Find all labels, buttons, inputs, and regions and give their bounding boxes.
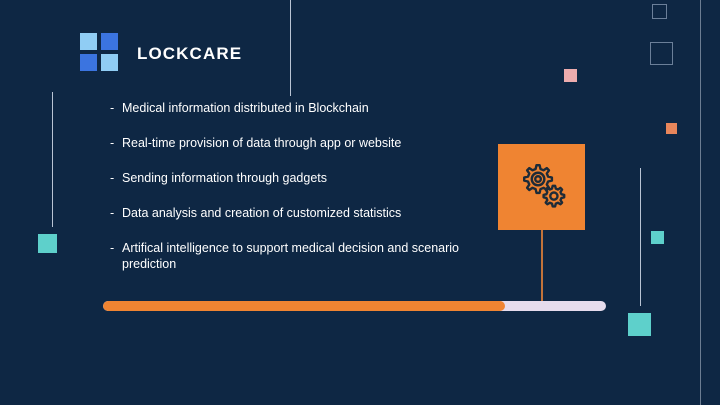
vertical-line-far-right [700, 0, 701, 405]
square-outline-large [650, 42, 673, 65]
square-teal-large-right [628, 313, 651, 336]
four-squares-logo-icon [80, 33, 118, 71]
vertical-line-right [640, 168, 641, 306]
vertical-line-middle [290, 0, 291, 96]
bullet-dash-icon: - [110, 135, 122, 151]
bullet-dash-icon: - [110, 100, 122, 116]
page-title: LOCKCARE [137, 44, 242, 64]
logo-square-top-right [101, 33, 118, 50]
square-pink [564, 69, 577, 82]
list-item-label: Real-time provision of data through app … [122, 135, 401, 151]
progress-bar-fill [103, 301, 505, 311]
bullet-dash-icon: - [110, 205, 122, 221]
square-orange [666, 123, 677, 134]
gears-card [498, 144, 585, 230]
list-item: - Real-time provision of data through ap… [110, 135, 500, 151]
logo-square-bottom-right [101, 54, 118, 71]
list-item: - Medical information distributed in Blo… [110, 100, 500, 116]
slide-canvas: LOCKCARE - Medical information distribut… [0, 0, 720, 405]
bullet-dash-icon: - [110, 170, 122, 186]
square-outline-small [652, 4, 667, 19]
feature-list: - Medical information distributed in Blo… [110, 100, 500, 272]
square-teal-left [38, 234, 57, 253]
bullet-dash-icon: - [110, 240, 122, 256]
list-item-label: Data analysis and creation of customized… [122, 205, 401, 221]
list-item: - Artifical intelligence to support medi… [110, 240, 500, 272]
card-connector-line [541, 230, 543, 306]
list-item: - Sending information through gadgets [110, 170, 500, 186]
logo-square-bottom-left [80, 54, 97, 71]
vertical-line-left [52, 92, 53, 227]
gears-icon [515, 162, 569, 212]
list-item-label: Sending information through gadgets [122, 170, 327, 186]
progress-bar[interactable] [103, 301, 606, 311]
square-teal-small-right [651, 231, 664, 244]
logo-square-top-left [80, 33, 97, 50]
list-item-label: Artifical intelligence to support medica… [122, 240, 500, 272]
list-item-label: Medical information distributed in Block… [122, 100, 369, 116]
list-item: - Data analysis and creation of customiz… [110, 205, 500, 221]
